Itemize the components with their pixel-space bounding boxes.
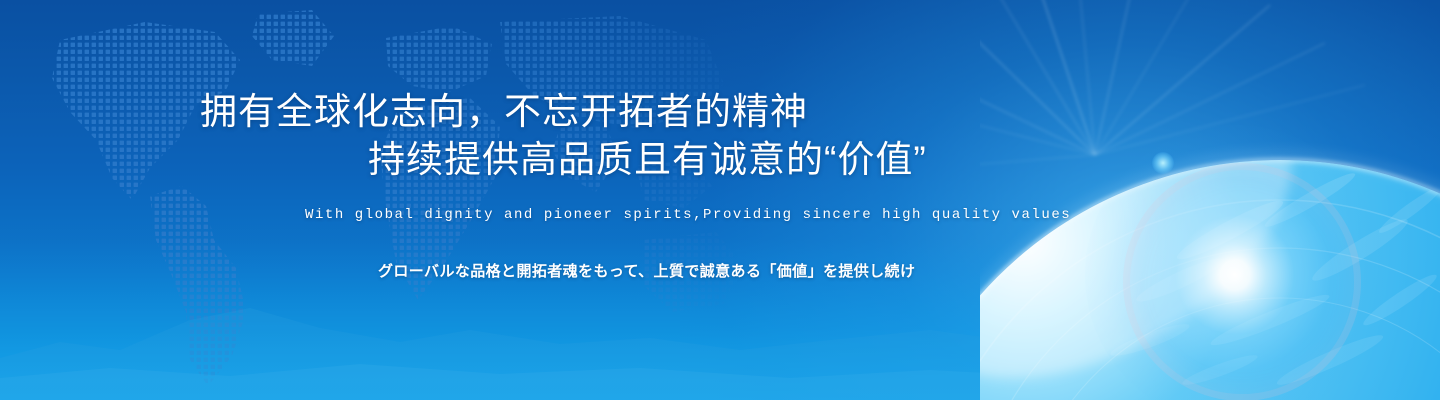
headline-line-2: 持续提供高品质且有诚意的“价值” bbox=[200, 136, 927, 184]
light-orb bbox=[1152, 152, 1174, 174]
subtitle-english: With global dignity and pioneer spirits,… bbox=[305, 207, 1071, 223]
headline: 拥有全球化志向，不忘开拓者的精神 持续提供高品质且有诚意的“价值” bbox=[200, 88, 927, 184]
hero-banner: 拥有全球化志向，不忘开拓者的精神 持续提供高品质且有诚意的“价值” With g… bbox=[0, 0, 1440, 400]
headline-line-1: 拥有全球化志向，不忘开拓者的精神 bbox=[200, 91, 808, 132]
banner-copy: 拥有全球化志向，不忘开拓者的精神 持续提供高品质且有诚意的“价值” With g… bbox=[0, 0, 1100, 400]
subtitle-japanese: グローバルな品格と開拓者魂をもって、上質で誠意ある「価値」を提供し続け bbox=[378, 260, 915, 281]
